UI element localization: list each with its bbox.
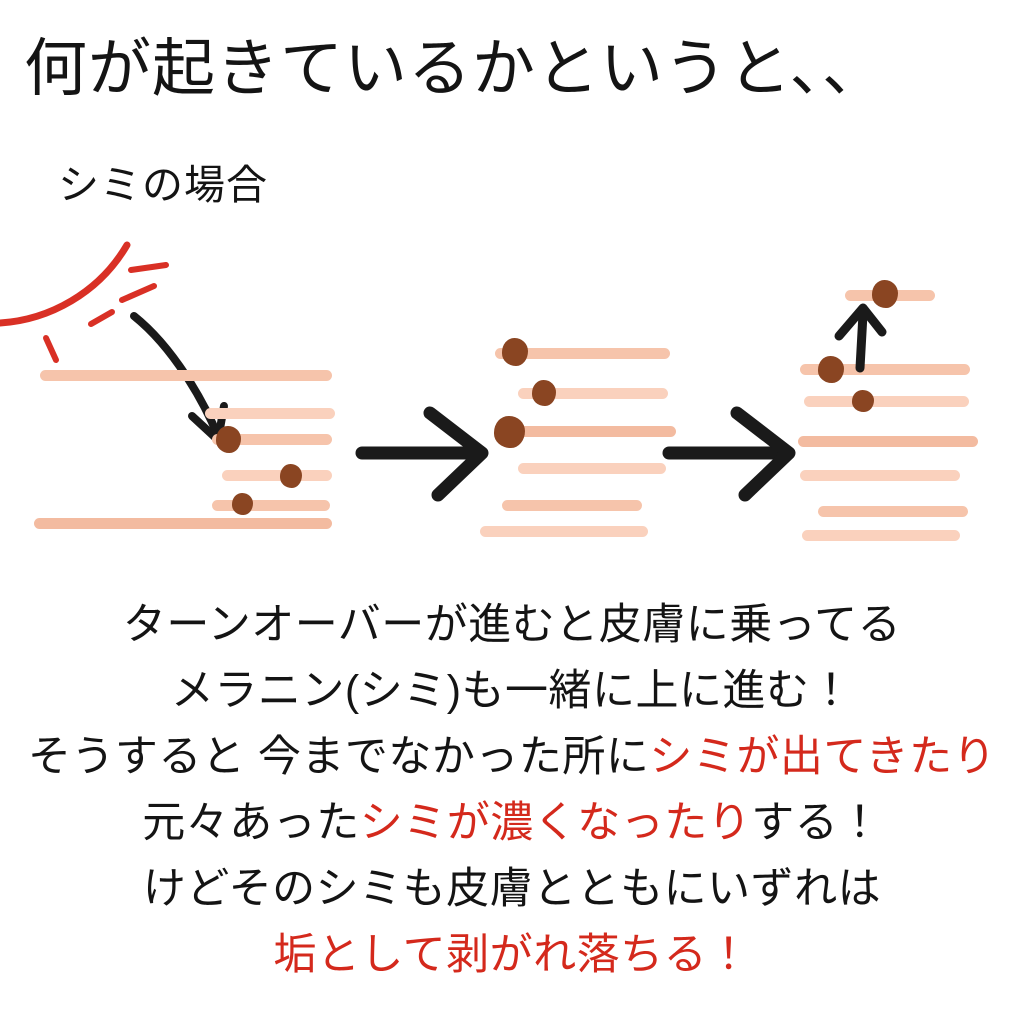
skin-layer [212,500,330,511]
skin-layer [222,470,332,481]
skin-layer [798,436,978,447]
text-line-2: メラニン(シミ)も一緒に上に進む！ [0,658,1024,724]
melanin-dot [232,493,253,515]
diagram-panel-melanin-shed [790,238,1000,548]
text-line-5: けどそのシミも皮膚とともにいずれは [0,856,1024,922]
text-segment-highlight: シミが出てきたり [649,733,996,781]
text-segment: そうすると 今までなかった所に [28,733,649,781]
skin-layer [800,470,960,481]
shedding-up-arrow-icon [830,300,910,372]
skin-layer [40,370,332,381]
text-line-4: 元々あったシミが濃くなったりする！ [0,790,1024,856]
diagram-caption-shimi: シミの場合 [58,163,268,208]
diagram-panel-uv-exposure [0,238,345,548]
melanin-dot [280,464,302,488]
explanation-text-block: ターンオーバーが進むと皮膚に乗ってる メラニン(シミ)も一緒に上に進む！ そうす… [0,592,1024,988]
text-segment: メラニン(シミ)も一緒に上に進む！ [171,667,853,715]
melanin-dot [852,390,874,412]
skin-layer [804,396,969,407]
diagram-panel-melanin-rising [480,238,695,548]
melanin-dot [532,380,556,406]
skin-layer [518,463,666,474]
text-segment: する！ [751,799,882,847]
turnover-diagram [0,238,1024,548]
skin-layer [34,518,332,529]
text-line-6: 垢として剥がれ落ちる！ [0,922,1024,988]
skin-layer [480,526,648,537]
skin-layer [502,500,642,511]
melanin-dot [216,426,241,453]
text-line-1: ターンオーバーが進むと皮膚に乗ってる [0,592,1024,658]
infographic-canvas: 何が起きているかというと、、 シミの場合 [0,0,1024,1024]
skin-layer [818,506,968,517]
text-segment-highlight: 垢として剥がれ落ちる！ [273,931,750,979]
text-segment-highlight: シミが濃くなったり [360,799,752,847]
melanin-dot [502,338,528,366]
text-segment: けどそのシミも皮膚とともにいずれは [143,865,881,913]
text-line-3: そうすると 今までなかった所にシミが出てきたり [0,724,1024,790]
melanin-dot [494,416,525,448]
text-segment: ターンオーバーが進むと皮膚に乗ってる [123,601,901,649]
text-segment: 元々あった [142,799,360,847]
skin-layer [205,408,335,419]
skin-layer [802,530,960,541]
page-title: 何が起きているかというと、、 [24,33,886,105]
